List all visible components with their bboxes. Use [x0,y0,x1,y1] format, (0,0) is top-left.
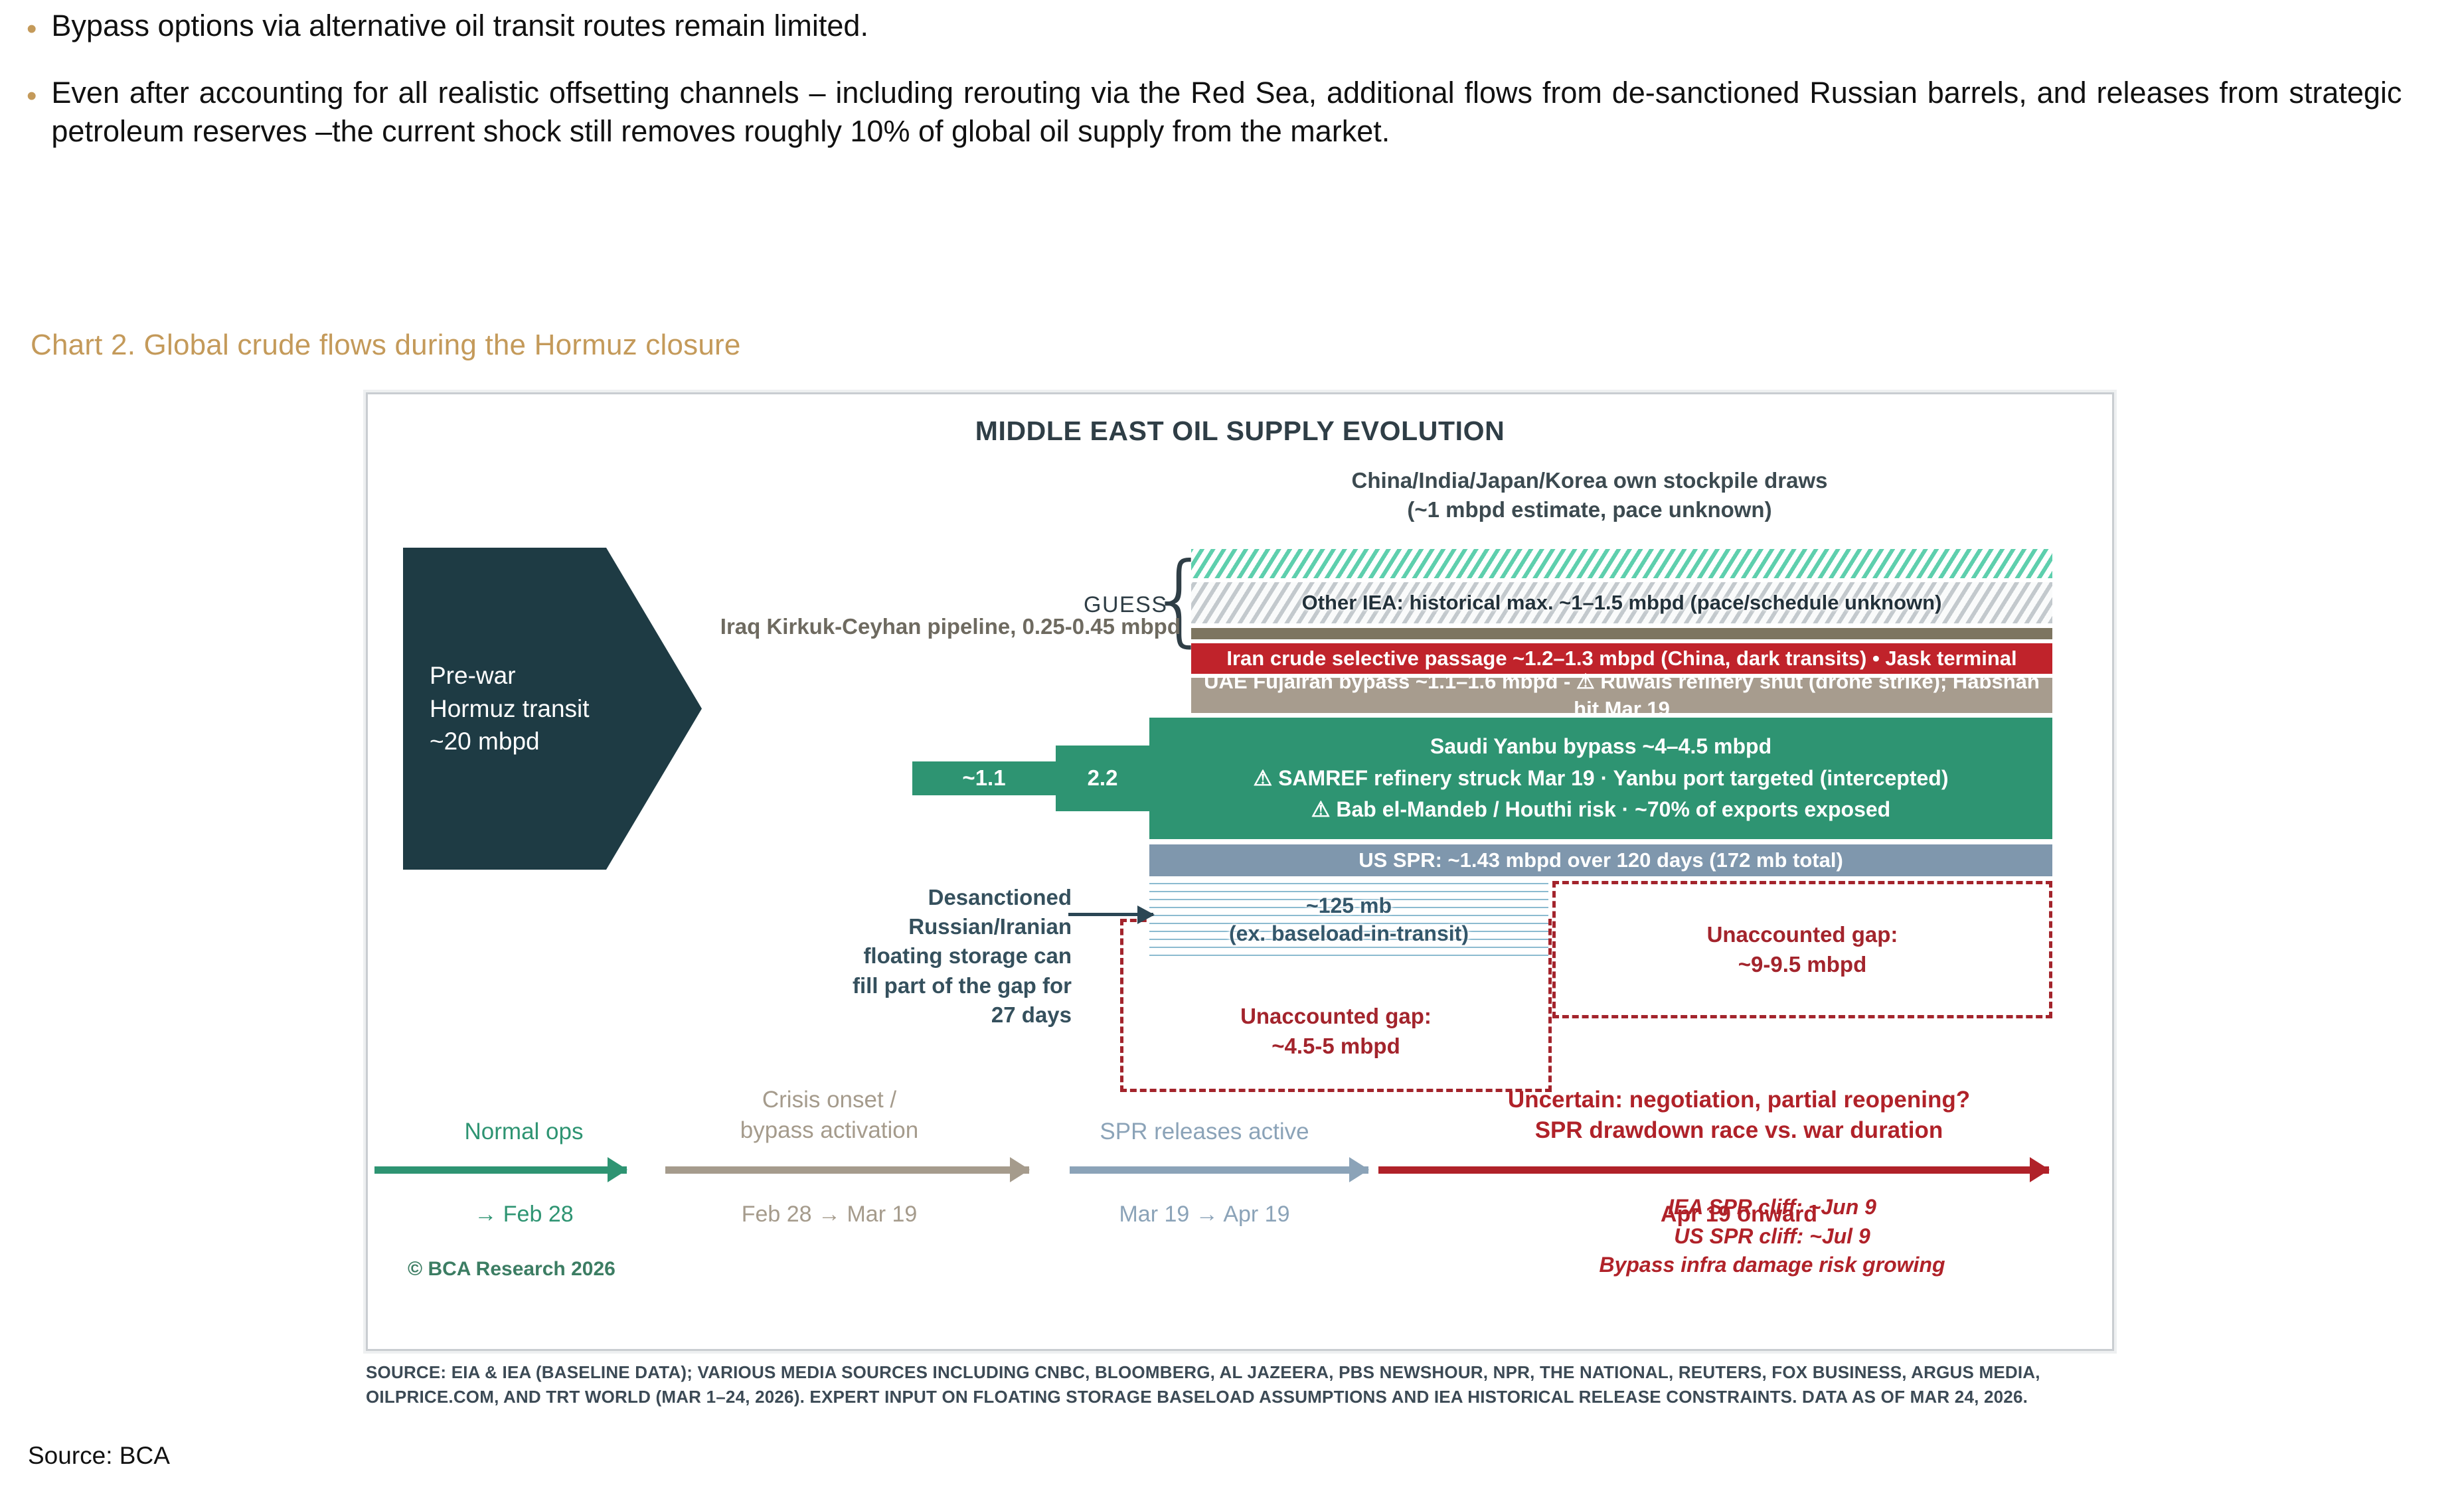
source-note: SOURCE: EIA & IEA (BASELINE DATA); VARIO… [366,1360,2066,1409]
list-item: • Even after accounting for all realisti… [27,74,2430,151]
timeline-seg2-top-b: bypass activation [653,1115,1005,1146]
timeline-seg2-arrow-icon [665,1166,1029,1174]
bar-desanctioned-line-2: (ex. baseload-in-transit) [1229,920,1469,948]
prewar-hormuz-transit-block: Pre-war Hormuz transit ~20 mbpd [403,548,702,870]
bar-saudi-step-mid-label: 2.2 [1088,764,1118,793]
timeline-seg2-top: Crisis onset / bypass activation [653,1085,1005,1145]
unaccounted-gap-phase2-line-2: ~9-9.5 mbpd [1738,950,1866,980]
list-item: • Bypass options via alternative oil tra… [27,7,2430,46]
desanctioned-annotation-l5: 27 days [720,1000,1072,1030]
timeline-note-iea-cliff: IEA SPR cliff: ~Jun 9 [1490,1193,2054,1222]
bar-us-spr: US SPR: ~1.43 mbpd over 120 days (172 mb… [1149,844,2052,876]
timeline-seg2-bottom: Feb 28 → Mar 19 [653,1200,1005,1229]
bar-us-spr-label: US SPR: ~1.43 mbpd over 120 days (172 mb… [1358,847,1843,874]
bar-saudi-yanbu: Saudi Yanbu bypass ~4–4.5 mbpd ⚠ SAMREF … [1149,718,2052,839]
bar-saudi-line-3: ⚠ Bab el-Mandeb / Houthi risk · ~70% of … [1311,796,1890,824]
timeline-note-us-cliff: US SPR cliff: ~Jul 9 [1490,1222,2054,1251]
desanctioned-annotation-l1: Desanctioned [720,883,1072,912]
source-footer: Source: BCA [28,1442,170,1470]
bar-saudi-line-1: Saudi Yanbu bypass ~4–4.5 mbpd [1430,733,1771,761]
timeline-seg3-arrow-icon [1070,1166,1368,1174]
stockpile-caption-line-1: China/India/Japan/Korea own stockpile dr… [1098,466,2081,495]
timeline-seg2-top-a: Crisis onset / [653,1085,1005,1115]
chart-title-text: MIDDLE EAST OIL SUPPLY EVOLUTION [368,416,2112,447]
chart-panel: MIDDLE EAST OIL SUPPLY EVOLUTION Pre-war… [366,392,2114,1351]
timeline-seg4-top-b: SPR drawdown race vs. war duration [1404,1115,2074,1146]
bullet-text-2: Even after accounting for all realistic … [51,74,2402,151]
bar-uae-fujairah: UAE Fujairah bypass ~1.1–1.6 mbpd - ⚠ Ru… [1191,678,2052,713]
timeline-seg1-arrow-icon [374,1166,627,1174]
unaccounted-gap-phase1-line-1: Unaccounted gap: [1240,1002,1432,1032]
bar-iraq-pipeline: Iraq Kirkuk-Ceyhan pipeline, 0.25-0.45 m… [1191,628,2052,639]
bullet-dot-icon: • [27,82,37,111]
bar-iran-crude-label: Iran crude selective passage ~1.2–1.3 mb… [1226,645,2016,672]
chart-caption: Chart 2. Global crude flows during the H… [31,329,741,362]
bullet-list: • Bypass options via alternative oil tra… [27,7,2430,179]
unaccounted-gap-phase1-text: Unaccounted gap: ~4.5-5 mbpd [1240,1002,1432,1061]
prewar-line-2: Hormuz transit [430,692,590,726]
bar-saudi-step-mid: 2.2 [1056,746,1149,811]
prewar-line-1: Pre-war [430,659,590,692]
bar-other-iea: Other IEA: historical max. ~1–1.5 mbpd (… [1191,582,2052,623]
timeline-seg4-top: Uncertain: negotiation, partial reopenin… [1404,1085,2074,1145]
bullet-text-1: Bypass options via alternative oil trans… [51,7,868,46]
timeline-seg3-top: SPR releases active [1032,1117,1377,1147]
timeline-note-bypass-risk: Bypass infra damage risk growing [1490,1251,2054,1280]
bar-iraq-pipeline-label: Iraq Kirkuk-Ceyhan pipeline, 0.25-0.45 m… [656,614,1181,639]
stockpile-caption: China/India/Japan/Korea own stockpile dr… [1098,466,2081,524]
bar-stockpile-draws [1191,549,2052,578]
desanctioned-annotation-l3: floating storage can [720,941,1072,971]
bar-desanctioned-line-1: ~125 mb [1306,892,1392,920]
bar-saudi-step-small: ~1.1 [912,761,1056,795]
unaccounted-gap-phase2-line-1: Unaccounted gap: [1707,920,1898,950]
timeline-seg3-bottom: Mar 19 → Apr 19 [1032,1200,1377,1229]
prewar-hormuz-transit-label: Pre-war Hormuz transit ~20 mbpd [430,659,590,758]
bar-saudi-line-2: ⚠ SAMREF refinery struck Mar 19 · Yanbu … [1254,765,1949,793]
timeline-seg1-top: Normal ops [368,1117,680,1147]
copyright-label: © BCA Research 2026 [408,1258,616,1281]
desanctioned-annotation: Desanctioned Russian/Iranian floating st… [720,883,1072,1030]
bullet-dot-icon: • [27,15,37,44]
bar-desanctioned-floating-storage: ~125 mb (ex. baseload-in-transit) [1149,881,1548,959]
bar-uae-fujairah-label: UAE Fujairah bypass ~1.1–1.6 mbpd - ⚠ Ru… [1191,669,2052,722]
prewar-line-3: ~20 mbpd [430,725,590,758]
desanctioned-annotation-l4: fill part of the gap for [720,971,1072,1000]
bar-saudi-step-small-label: ~1.1 [962,764,1005,793]
timeline-seg1-bottom: → Feb 28 [368,1200,680,1229]
timeline-risk-notes: IEA SPR cliff: ~Jun 9 US SPR cliff: ~Jul… [1490,1193,2054,1280]
unaccounted-gap-phase1-line-2: ~4.5-5 mbpd [1240,1032,1432,1062]
timeline-seg4-top-a: Uncertain: negotiation, partial reopenin… [1404,1085,2074,1115]
bar-other-iea-label: Other IEA: historical max. ~1–1.5 mbpd (… [1302,590,1942,616]
unaccounted-gap-phase2-box: Unaccounted gap: ~9-9.5 mbpd [1552,881,2052,1018]
desanctioned-annotation-l2: Russian/Iranian [720,912,1072,941]
annotation-arrow-icon [1068,913,1153,916]
stockpile-caption-line-2: (~1 mbpd estimate, pace unknown) [1098,495,2081,524]
timeline-seg4-arrow-icon [1378,1166,2049,1174]
